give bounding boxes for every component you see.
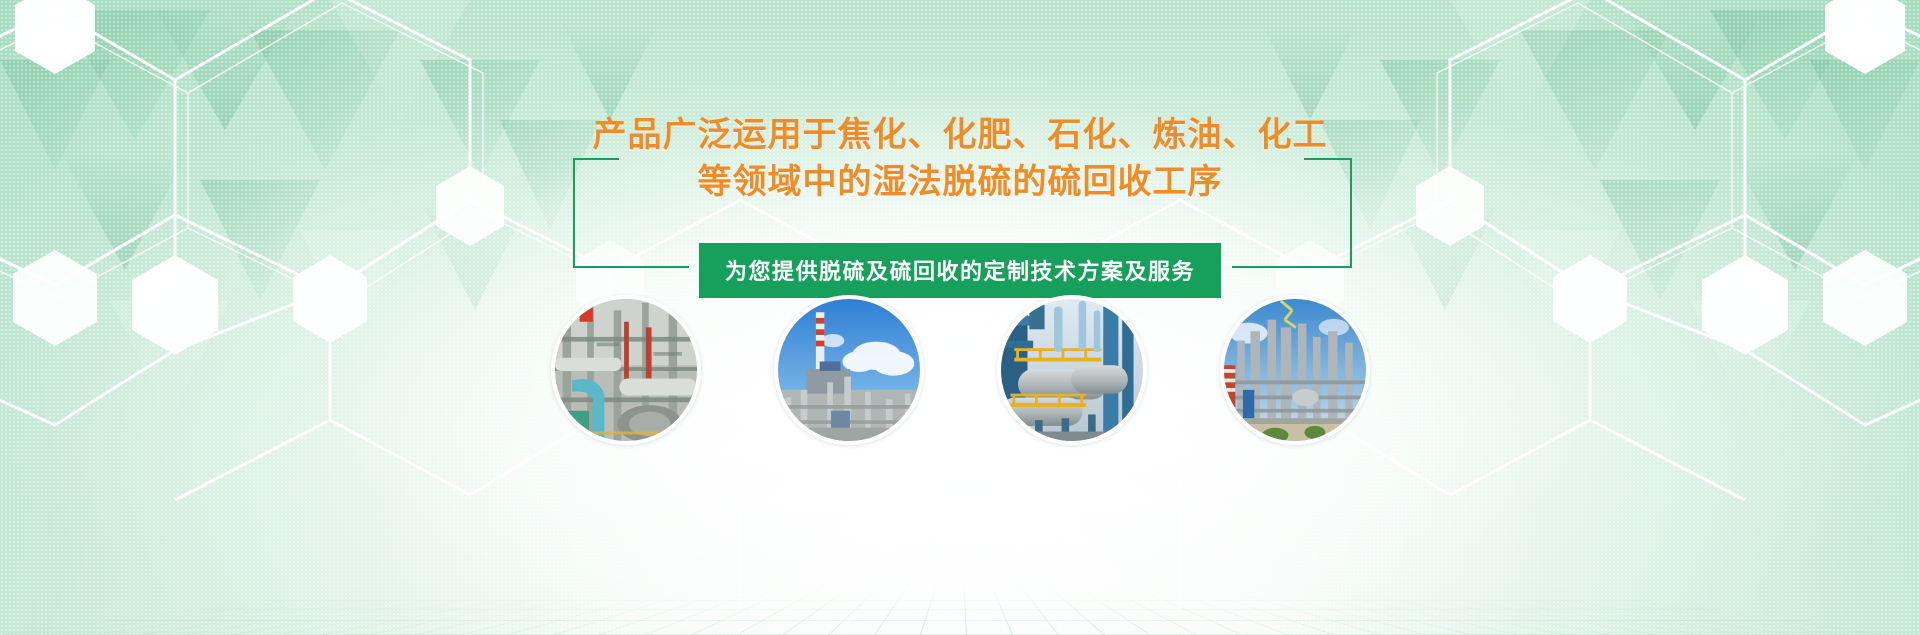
photo-blue-vessels-art (1001, 299, 1143, 441)
hero-banner: 产品广泛运用于焦化、化肥、石化、炼油、化工 等领域中的湿法脱硫的硫回收工序 为您… (0, 0, 1920, 635)
photo-pipes-heat-exchanger (551, 295, 701, 445)
headline-line-1: 产品广泛运用于焦化、化肥、石化、炼油、化工 (593, 116, 1328, 154)
photo-smokestack-plant (774, 295, 924, 445)
photo-refinery-towers-art (1224, 299, 1366, 441)
headline-line-2: 等领域中的湿法脱硫的硫回收工序 (593, 159, 1328, 206)
photo-pipes-heat-exchanger-art (555, 299, 697, 441)
photo-smokestack-plant-art (778, 299, 920, 441)
subtitle-block: 为您提供脱硫及硫回收的定制技术方案及服务 (0, 243, 1920, 298)
headline-block: 产品广泛运用于焦化、化肥、石化、炼油、化工 等领域中的湿法脱硫的硫回收工序 (0, 112, 1920, 206)
headline: 产品广泛运用于焦化、化肥、石化、炼油、化工 等领域中的湿法脱硫的硫回收工序 (593, 112, 1328, 206)
photo-refinery-towers (1220, 295, 1370, 445)
photo-blue-vessels (997, 295, 1147, 445)
photo-row (0, 295, 1920, 445)
subtitle-banner: 为您提供脱硫及硫回收的定制技术方案及服务 (699, 243, 1221, 298)
